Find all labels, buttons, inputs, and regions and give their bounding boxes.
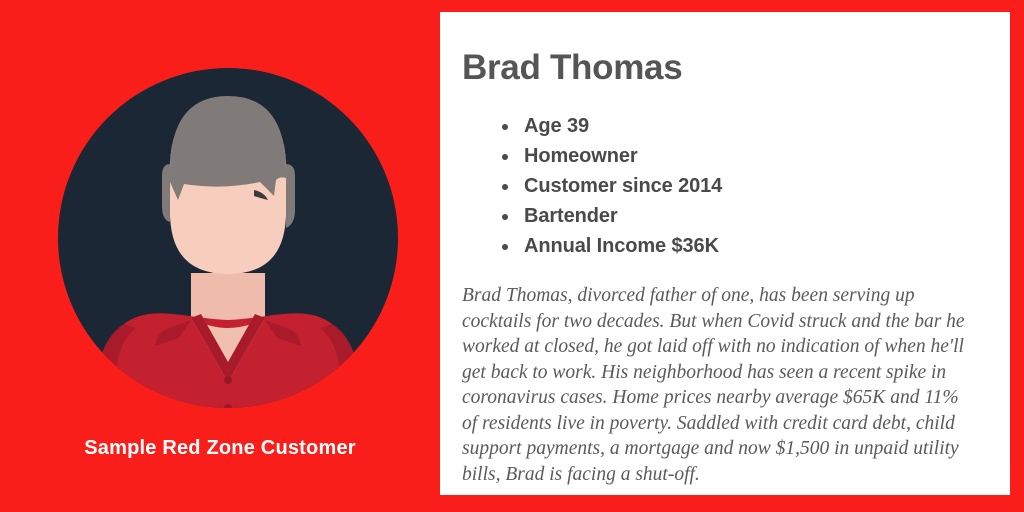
profile-name: Brad Thomas (462, 50, 976, 85)
list-item: Customer since 2014 (502, 171, 976, 201)
avatar-column: Sample Red Zone Customer (0, 0, 440, 512)
profile-story-paragraph: Brad Thomas, divorced father of one, has… (462, 283, 976, 487)
list-item: Annual Income $36K (502, 231, 976, 261)
customer-profile-poster: Sample Red Zone Customer Brad Thomas Age… (0, 0, 1024, 512)
list-item: Age 39 (502, 111, 976, 141)
profile-card: Brad Thomas Age 39 Homeowner Customer si… (440, 12, 1010, 495)
list-item: Bartender (502, 201, 976, 231)
profile-facts-list: Age 39 Homeowner Customer since 2014 Bar… (502, 111, 976, 261)
avatar-caption: Sample Red Zone Customer (0, 437, 440, 460)
person-portrait-icon (58, 68, 398, 408)
customer-avatar (58, 68, 398, 408)
list-item: Homeowner (502, 141, 976, 171)
